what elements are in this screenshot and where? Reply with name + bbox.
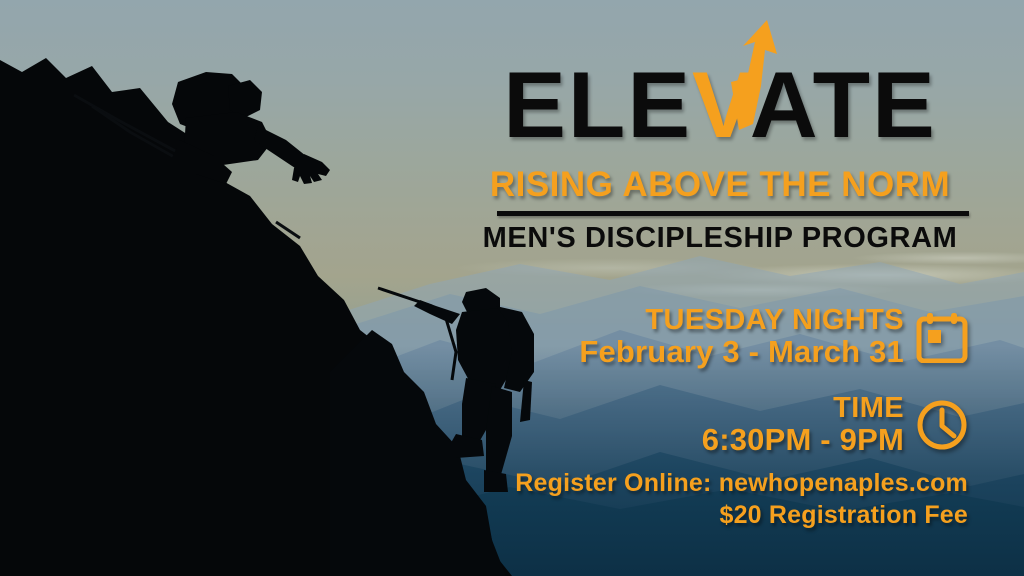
logo-wordmark: ELEVATE bbox=[470, 58, 970, 168]
program-label: MEN'S DISCIPLESHIP PROGRAM bbox=[470, 222, 970, 255]
page-title: ELEVATE bbox=[470, 58, 970, 152]
poster: ELEVATE RISING ABOVE THE NORM MEN'S DISC… bbox=[0, 0, 1024, 576]
time-block: TIME 6:30PM - 9PM bbox=[702, 393, 968, 457]
tagline: RISING ABOVE THE NORM bbox=[470, 165, 970, 205]
date-heading: TUESDAY NIGHTS bbox=[579, 305, 904, 336]
date-range: February 3 - March 31 bbox=[579, 336, 904, 369]
title-part-1: ELE bbox=[503, 52, 692, 157]
clock-icon bbox=[916, 399, 968, 451]
climber-reaching-down-silhouette bbox=[172, 72, 330, 184]
title-letter-v: V bbox=[692, 52, 750, 157]
time-heading: TIME bbox=[702, 393, 904, 424]
time-range: 6:30PM - 9PM bbox=[702, 424, 904, 457]
registration-info: Register Online: newhopenaples.com $20 R… bbox=[515, 467, 968, 531]
register-url-line: Register Online: newhopenaples.com bbox=[515, 467, 968, 499]
register-fee-line: $20 Registration Fee bbox=[515, 499, 968, 531]
date-text: TUESDAY NIGHTS February 3 - March 31 bbox=[579, 305, 904, 369]
content-block: ELEVATE RISING ABOVE THE NORM MEN'S DISC… bbox=[470, 0, 1024, 576]
calendar-icon bbox=[916, 311, 968, 363]
divider-rule bbox=[497, 211, 969, 216]
date-block: TUESDAY NIGHTS February 3 - March 31 bbox=[579, 305, 968, 369]
title-part-2: ATE bbox=[750, 52, 937, 157]
time-text: TIME 6:30PM - 9PM bbox=[702, 393, 904, 457]
